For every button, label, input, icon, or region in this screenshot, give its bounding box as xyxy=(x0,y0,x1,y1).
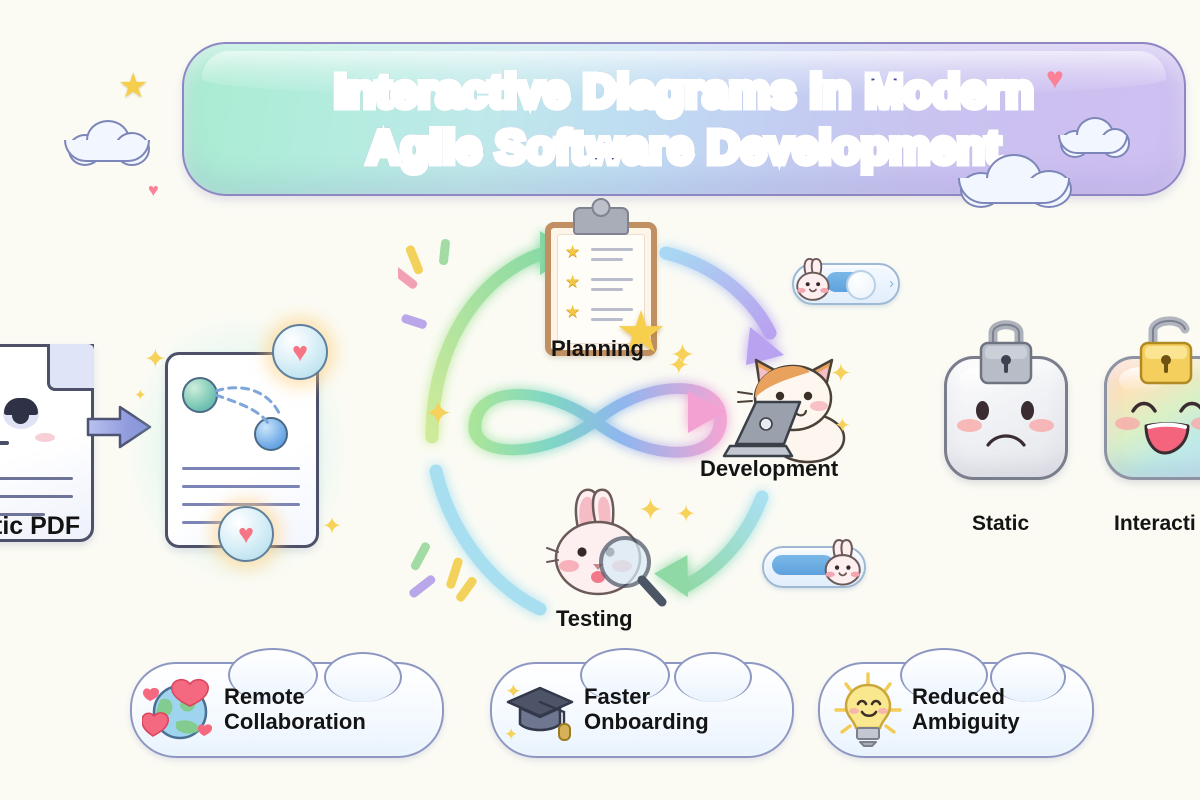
benefit-pill-remote-collaboration[interactable]: Remote Collaboration xyxy=(130,662,444,758)
benefit-label-reduced-ambiguity: Reduced Ambiguity xyxy=(912,685,1020,734)
comparison-card-static xyxy=(944,356,1068,480)
illustration-canvas: Interactive Diagrams in Modern Agile Sof… xyxy=(0,0,1200,800)
toggle-switch-top[interactable]: › xyxy=(792,263,900,305)
toggle-motion-lines: › xyxy=(889,275,894,292)
toggle-switch-bottom[interactable] xyxy=(762,546,866,588)
unlocked-padlock-icon xyxy=(1133,311,1200,391)
static-pdf-label: tic PDF xyxy=(0,512,80,541)
mouth-icon xyxy=(0,441,9,445)
earth-hearts-icon xyxy=(142,672,218,748)
svg-text:✦: ✦ xyxy=(505,681,522,703)
star-icon: ★ xyxy=(565,242,580,262)
benefit-label-line1: Reduced xyxy=(912,685,1020,710)
toggle-knob xyxy=(846,270,876,300)
card-label-interactive: Interacti xyxy=(1114,512,1196,536)
eye-icon xyxy=(1021,401,1034,420)
svg-text:✦: ✦ xyxy=(638,494,663,527)
doc-text-line xyxy=(182,467,300,470)
checklist-line xyxy=(591,288,623,291)
doc-text-line xyxy=(182,503,300,506)
clipboard-clip-icon xyxy=(573,207,629,235)
doc-text-line xyxy=(0,477,73,480)
heart-icon: ♥ xyxy=(148,180,159,201)
sparkle-icon: ✦ xyxy=(668,350,690,381)
eye-icon xyxy=(976,401,989,420)
benefit-pill-reduced-ambiguity[interactable]: Reduced Ambiguity xyxy=(818,662,1094,758)
bunny-face-icon xyxy=(792,257,838,303)
open-smile-icon xyxy=(1143,421,1191,455)
benefit-label-line2: Onboarding xyxy=(584,710,709,735)
blush-icon xyxy=(1029,419,1054,432)
blush-icon xyxy=(1191,417,1200,430)
heart-icon: ♥ xyxy=(1046,62,1064,96)
svg-text:✦: ✦ xyxy=(834,415,851,437)
page-title-line-1: Interactive Diagrams in Modern xyxy=(184,64,1184,118)
sparkle-icon: ✦ xyxy=(144,344,167,375)
star-icon: ★ xyxy=(565,272,580,292)
heart-badge-top[interactable]: ♥ xyxy=(272,324,328,380)
cat-with-laptop-icon: ✦ ✦ xyxy=(722,352,858,468)
checklist-line xyxy=(591,248,633,251)
bunny-magnifier-icon: ✦ xyxy=(546,486,676,608)
happy-eye-right-icon xyxy=(1179,399,1200,415)
benefit-label-line1: Remote xyxy=(224,685,366,710)
svg-text:✦: ✦ xyxy=(830,358,852,388)
cloud-icon xyxy=(1058,116,1128,154)
doc-text-line xyxy=(0,495,73,498)
page-fold-corner xyxy=(47,344,94,391)
benefit-label-remote-collaboration: Remote Collaboration xyxy=(224,685,366,734)
heart-badge-bottom[interactable]: ♥ xyxy=(218,506,274,562)
blush-icon xyxy=(35,433,55,442)
checklist-line xyxy=(591,278,633,281)
benefit-label-faster-onboarding: Faster Onboarding xyxy=(584,685,709,734)
benefit-label-line2: Collaboration xyxy=(224,710,366,735)
benefit-label-line2: Ambiguity xyxy=(912,710,1020,735)
svg-text:✦: ✦ xyxy=(504,725,518,744)
star-icon: ★ xyxy=(565,302,580,322)
sparkle-icon: ✦ xyxy=(134,386,147,404)
stage-label-testing: Testing xyxy=(556,606,633,632)
svg-text:✦: ✦ xyxy=(424,395,453,433)
stage-label-planning: Planning xyxy=(551,336,644,362)
blush-icon xyxy=(957,419,982,432)
benefit-label-line1: Faster xyxy=(584,685,709,710)
happy-eye-left-icon xyxy=(1131,399,1157,415)
cloud-icon xyxy=(958,152,1070,204)
checklist-line xyxy=(591,258,623,261)
card-label-static: Static xyxy=(972,512,1029,536)
stage-label-development: Development xyxy=(700,456,838,482)
bunny-face-icon xyxy=(820,538,870,588)
sparkle-icon: ✦ xyxy=(676,500,696,529)
blush-icon xyxy=(1115,417,1140,430)
cloud-icon xyxy=(64,118,150,162)
sad-mouth-icon xyxy=(985,431,1027,449)
sad-eye-right-icon xyxy=(3,399,39,429)
benefit-pill-faster-onboarding[interactable]: ✦ ✦ Faster Onboarding xyxy=(490,662,794,758)
locked-padlock-icon xyxy=(973,315,1039,389)
comparison-card-interactive xyxy=(1104,356,1200,480)
doc-text-line xyxy=(182,485,300,488)
star-icon: ★ xyxy=(118,66,148,106)
graduation-cap-icon: ✦ ✦ xyxy=(502,672,578,748)
lightbulb-icon xyxy=(830,672,906,748)
sparkle-icon: ✦ xyxy=(322,512,342,541)
